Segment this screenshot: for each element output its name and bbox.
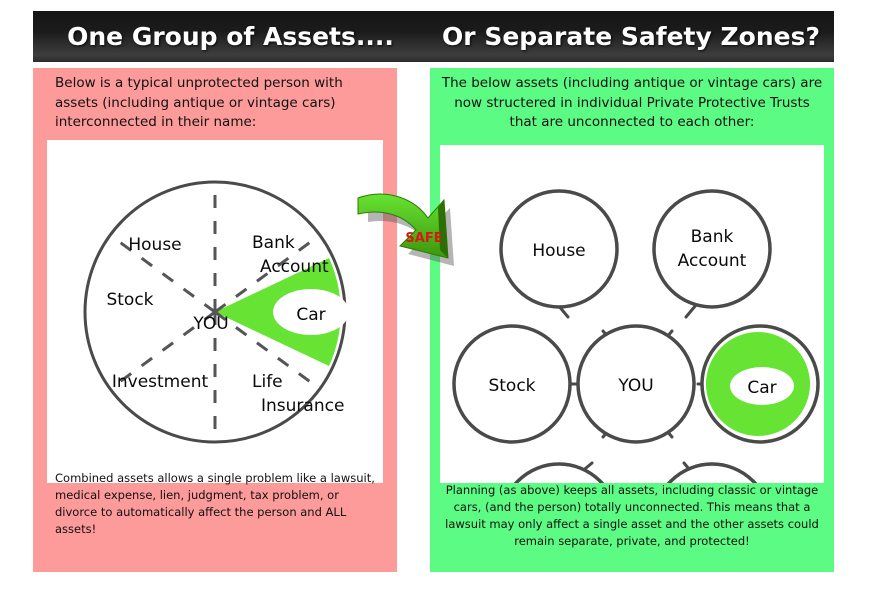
- right-diagram-canvas: House Bank Account Stock YOU Car Investm…: [440, 145, 824, 483]
- curved-arrow-icon: SAFE: [352, 184, 474, 266]
- arrow-body: [358, 194, 448, 258]
- header-banner: One Group of Assets.... Or Separate Safe…: [33, 11, 834, 62]
- left-panel-intro-text: Below is a typical unprotected person wi…: [33, 74, 397, 133]
- label-bank: Bank: [252, 233, 295, 253]
- label-stock: Stock: [488, 376, 535, 396]
- panel-one-group-of-assets: Below is a typical unprotected person wi…: [33, 68, 397, 572]
- left-panel-footer-text: Combined assets allows a single problem …: [33, 470, 397, 538]
- label-bank: Bank: [691, 227, 734, 247]
- safe-label: SAFE: [405, 231, 442, 246]
- separate-trusts-diagram: House Bank Account Stock YOU Car Investm…: [440, 145, 824, 483]
- interconnected-assets-diagram: House Bank Account Stock YOU Investment …: [47, 140, 383, 483]
- circle-bank-account: [654, 191, 770, 307]
- label-car: Car: [747, 378, 776, 398]
- header-title-left: One Group of Assets....: [33, 22, 428, 51]
- stub-bank-bottom: [686, 305, 696, 317]
- label-car: Car: [296, 305, 325, 325]
- panel-separate-safety-zones: The below assets (including antique or v…: [430, 68, 834, 572]
- label-life-insurance: Insurance: [261, 396, 344, 416]
- label-you: YOU: [617, 376, 653, 396]
- circle-life-insurance: [654, 464, 770, 483]
- label-stock: Stock: [106, 290, 153, 310]
- label-house: House: [532, 241, 585, 261]
- right-panel-intro-text: The below assets (including antique or v…: [430, 74, 834, 133]
- label-life: Life: [252, 372, 283, 392]
- label-bank-account: Account: [260, 257, 329, 277]
- safe-arrow-graphic: SAFE: [352, 184, 474, 266]
- label-investment: Investment: [112, 372, 209, 392]
- label-you: YOU: [192, 314, 228, 334]
- label-house: House: [128, 235, 181, 255]
- label-bank-account: Account: [678, 251, 747, 271]
- circle-investment: [501, 464, 617, 483]
- header-title-right: Or Separate Safety Zones?: [428, 22, 834, 51]
- left-diagram-canvas: House Bank Account Stock YOU Investment …: [47, 140, 383, 483]
- right-panel-footer-text: Planning (as above) keeps all assets, in…: [430, 482, 834, 550]
